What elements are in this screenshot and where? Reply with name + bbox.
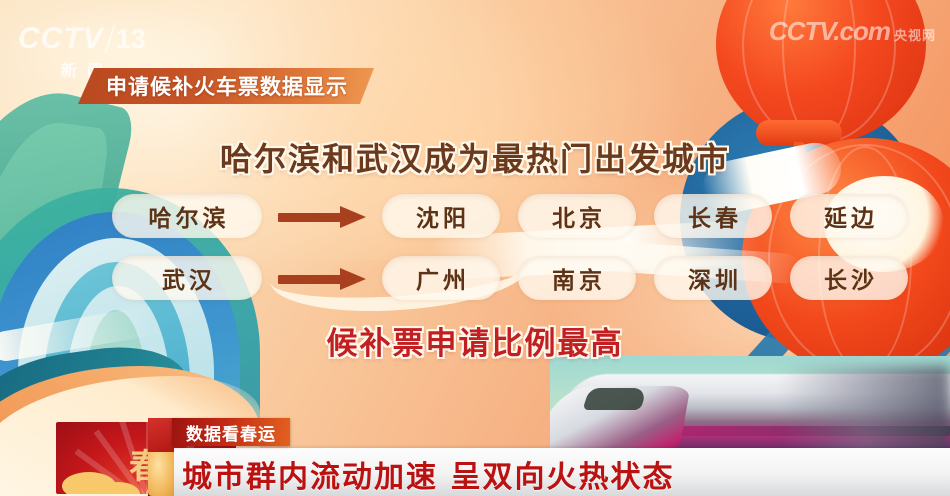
destination-city-pill: 广州 (382, 256, 500, 300)
destination-city-pill: 北京 (518, 194, 636, 238)
destination-city-pill: 沈阳 (382, 194, 500, 238)
route-row: 哈尔滨 沈阳 北京 长春 延边 (0, 192, 950, 240)
channel-logo-row: CCTV 13 (18, 22, 146, 56)
watermark-cn-text: 央视网 (894, 25, 936, 47)
watermark-text: CCTV.com (769, 16, 890, 47)
lower-third-tag: 数据看春运 (172, 418, 290, 446)
route-row: 武汉 广州 南京 深圳 长沙 (0, 254, 950, 302)
topic-banner: 申请候补火车票数据显示 (78, 68, 374, 104)
cctv-com-watermark: CCTV.com 央视网 (769, 16, 936, 47)
origin-city-pill: 哈尔滨 (112, 194, 262, 238)
channel-number: 13 (116, 24, 146, 55)
topic-banner-label: 申请候补火车票数据显示 (106, 71, 348, 101)
destination-city-pill: 长沙 (790, 256, 908, 300)
route-rows: 哈尔滨 沈阳 北京 长春 延边 武汉 广州 南京 深圳 长沙 (0, 192, 950, 316)
arrow-right-icon (278, 209, 366, 223)
train-window (582, 388, 647, 410)
lower-third-accent-gold (148, 452, 174, 496)
destination-city-pill: 延边 (790, 194, 908, 238)
sub-headline: 候补票申请比例最高 (0, 318, 950, 363)
destination-city-pill: 南京 (518, 256, 636, 300)
lower-third-title: 城市群内流动加速 呈双向火热状态 (182, 452, 674, 496)
destination-city-pill: 长春 (654, 194, 772, 238)
train-stripe (550, 426, 950, 436)
destination-city-pill: 深圳 (654, 256, 772, 300)
festive-cloud (62, 472, 116, 494)
festive-cloud (96, 482, 140, 494)
origin-city-pill: 武汉 (112, 256, 262, 300)
arrow-right-icon (278, 271, 366, 285)
main-headline: 哈尔滨和武汉成为最热门出发城市 (0, 134, 950, 180)
broadcast-screen: 春 CCTV 13 新闻 CCTV.com 央视网 申请候补火车票数据显示 哈尔… (0, 0, 950, 496)
cctv-wordmark: CCTV (18, 22, 104, 56)
lower-third-tag-label: 数据看春运 (186, 420, 276, 445)
logo-divider-icon (104, 25, 115, 53)
